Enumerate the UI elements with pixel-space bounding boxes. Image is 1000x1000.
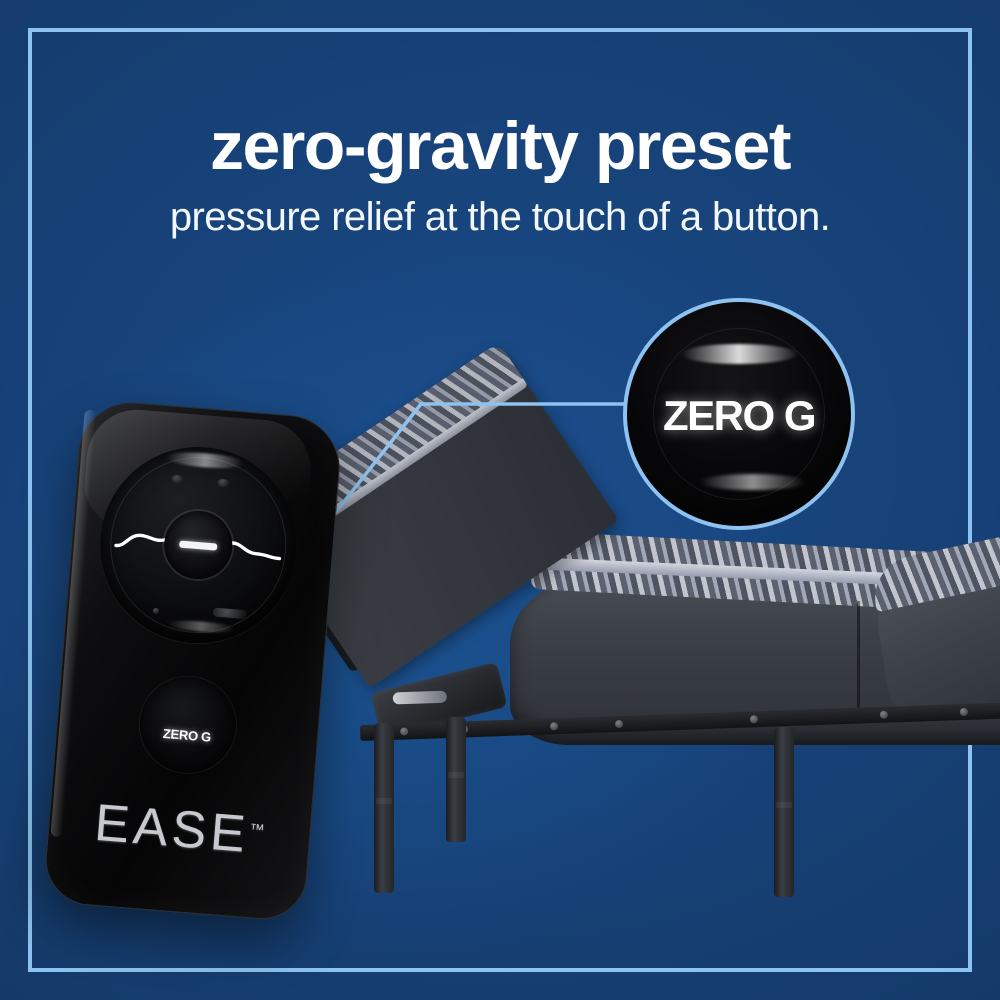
remote-control-pad[interactable]: [93, 440, 304, 651]
ease-remote-control[interactable]: ZERO G EASE™: [42, 398, 344, 922]
page-title: zero-gravity preset: [60, 112, 940, 181]
callout-bottom-gloss: [699, 474, 807, 490]
frame-leg: [446, 717, 466, 842]
rail-bolt: [960, 708, 968, 716]
rail-bolt: [750, 715, 758, 723]
frame-leg: [774, 727, 794, 897]
callout-top-gloss: [681, 344, 797, 364]
adjustable-bed: [360, 455, 1000, 925]
foot-position-wave-icon[interactable]: [225, 534, 283, 564]
marketing-image: zero-gravity preset pressure relief at t…: [0, 0, 1000, 1000]
callout-zero-g-label: ZERO G: [627, 392, 851, 440]
headline-block: zero-gravity preset pressure relief at t…: [0, 112, 1000, 239]
rail-bolt: [400, 727, 408, 735]
remote-edge-highlight: [50, 410, 96, 837]
rail-bolt: [615, 720, 623, 728]
ease-wordmark: EASE: [92, 794, 251, 864]
mattress-seam: [857, 601, 860, 719]
zero-g-callout-circle: ZERO G: [623, 298, 855, 530]
ease-brand-logo: EASE™: [47, 789, 311, 870]
head-position-wave-icon[interactable]: [114, 525, 172, 555]
page-subtitle: pressure relief at the touch of a button…: [60, 195, 940, 239]
rail-bolt: [880, 711, 888, 719]
trademark-symbol: ™: [249, 821, 265, 839]
zero-g-button[interactable]: ZERO G: [136, 673, 239, 776]
frame-leg: [374, 723, 394, 893]
zero-g-button-label: ZERO G: [162, 725, 211, 744]
mattress-foot-section: [870, 539, 1000, 722]
rail-bolt: [550, 722, 558, 730]
